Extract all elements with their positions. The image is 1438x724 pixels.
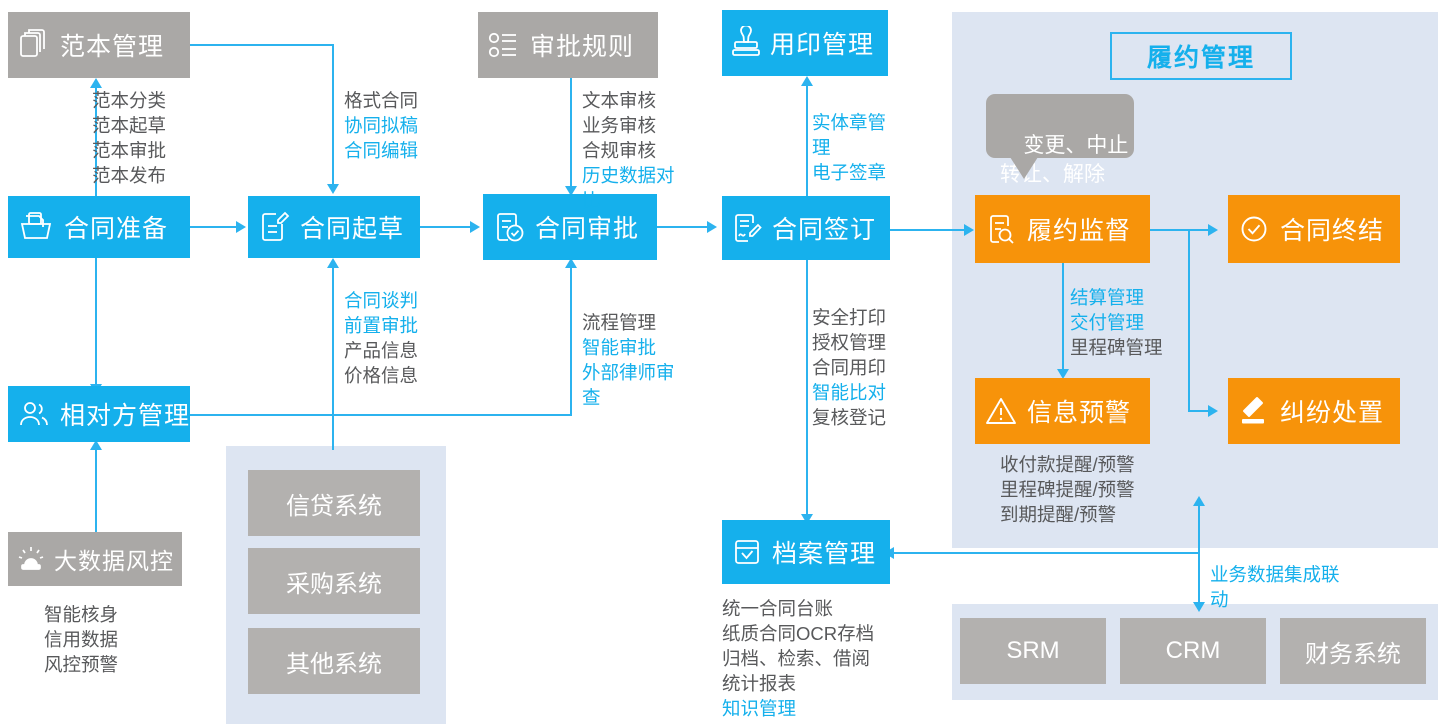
node-label: 审批规则 [530, 27, 634, 63]
connector-rules-to-approve-v [570, 78, 572, 188]
note-seal-side: 实体章管理电子签章 [812, 110, 886, 185]
note-line: 范本发布 [92, 163, 166, 188]
note-line: 到期提醒/预警 [1000, 502, 1135, 527]
node-label: 合同起草 [300, 209, 404, 245]
note-line: 历史数据对 [582, 163, 675, 188]
node-seal-mgmt[interactable]: 用印管理 [722, 10, 888, 76]
note-line: 复核登记 [812, 405, 886, 430]
connector-prep-to-counterparty-v [95, 258, 97, 386]
note-archive-bottom: 统一合同台账纸质合同OCR存档归档、检索、借阅统计报表知识管理 [722, 596, 874, 721]
connector-counterparty-to-draft-v [332, 268, 334, 416]
note-line: 协同拟稿 [344, 113, 418, 138]
note-approve-top: 文本审核业务审核合规审核历史数据对比 [582, 88, 675, 213]
system-label: 采购系统 [286, 564, 382, 599]
note-line: 电子签章 [812, 160, 886, 185]
system-box-crm[interactable]: CRM [1120, 618, 1266, 684]
connector-risk-to-counterparty-v [95, 450, 97, 532]
arrow-into-monitor-left [964, 224, 974, 236]
rules-list-icon [478, 30, 530, 60]
node-label: 信息预警 [1027, 393, 1131, 429]
connector-counterparty-to-draft-h [190, 414, 334, 416]
connector-template-to-draft-v [332, 44, 334, 186]
note-line: 里程碑提醒/预警 [1000, 477, 1135, 502]
connector-counterparty-to-approve-h [332, 414, 572, 416]
system-label: 财务系统 [1305, 634, 1401, 669]
node-contract-sign[interactable]: 合同签订 [722, 196, 890, 260]
note-line: 业务审核 [582, 113, 675, 138]
note-line: 授权管理 [812, 330, 886, 355]
note-line: 合规审核 [582, 138, 675, 163]
node-bigdata-risk[interactable]: 大数据风控 [8, 532, 182, 586]
callout-tail-icon [1010, 157, 1038, 179]
note-line: 查 [582, 385, 675, 410]
note-line: 业务数据集成联 [1210, 562, 1340, 587]
node-contract-end[interactable]: 合同终结 [1228, 195, 1400, 263]
note-approve-bottom: 流程管理智能审批外部律师审查 [582, 310, 675, 410]
note-line: 比 [582, 188, 675, 213]
note-line: 范本分类 [92, 88, 166, 113]
connector-sign-to-seal-v [806, 86, 808, 196]
note-line: 合同谈判 [344, 288, 418, 313]
connector-sign-to-monitor [890, 229, 966, 231]
note-line: 文本审核 [582, 88, 675, 113]
note-line: 价格信息 [344, 363, 418, 388]
note-perf-mid: 结算管理交付管理里程碑管理 [1070, 285, 1163, 360]
arrow-into-right-systems [1193, 602, 1205, 612]
group-title-text: 履约管理 [1147, 38, 1255, 74]
node-label: 履约监督 [1027, 211, 1131, 247]
connector-template-to-draft-h [190, 44, 334, 46]
node-archive-mgmt[interactable]: 档案管理 [722, 520, 890, 584]
note-line: 风控预警 [44, 652, 118, 677]
change-callout: 变更、中止 转让、解除 [986, 94, 1134, 158]
note-line: 智能核身 [44, 602, 118, 627]
node-counterparty-mgmt[interactable]: 相对方管理 [8, 386, 190, 442]
note-line: 前置审批 [344, 313, 418, 338]
system-box-procurement[interactable]: 采购系统 [248, 548, 420, 614]
note-integration: 业务数据集成联动 [1210, 562, 1340, 612]
connector-monitor-to-end-h [1150, 229, 1210, 231]
node-info-alert[interactable]: 信息预警 [975, 378, 1150, 444]
note-line: 智能审批 [582, 335, 675, 360]
connector-branch-to-dispute-h [1188, 410, 1210, 412]
note-line: 合同用印 [812, 355, 886, 380]
arrow-into-draft-left [236, 221, 246, 233]
note-alert-bottom: 收付款提醒/预警里程碑提醒/预警到期提醒/预警 [1000, 452, 1135, 527]
note-line: 理 [812, 135, 886, 160]
note-line: 结算管理 [1070, 285, 1163, 310]
arrow-into-draft-top [327, 184, 339, 194]
note-line: 知识管理 [722, 696, 874, 721]
system-label: 信贷系统 [286, 486, 382, 521]
connector-prep-to-draft [190, 226, 238, 228]
note-line: 统计报表 [722, 671, 874, 696]
node-label: 合同签订 [772, 210, 876, 246]
node-template-mgmt[interactable]: 范本管理 [8, 12, 190, 78]
arrow-into-perf-panel-bottom [1193, 496, 1205, 506]
doc-pencil-icon [248, 210, 300, 244]
note-line: 智能比对 [812, 380, 886, 405]
node-contract-prep[interactable]: 合同准备 [8, 196, 190, 258]
note-draft-top: 格式合同协同拟稿合同编辑 [344, 88, 418, 163]
users-icon [8, 399, 60, 429]
note-line: 格式合同 [344, 88, 418, 113]
stamp-icon [722, 26, 770, 60]
note-sign-bottom: 安全打印授权管理合同用印智能比对复核登记 [812, 305, 886, 430]
connector-midsystems-to-draft-v [332, 414, 334, 450]
connector-approve-to-sign [657, 226, 709, 228]
arrow-into-approve-left [470, 221, 480, 233]
system-box-srm[interactable]: SRM [960, 618, 1106, 684]
node-label: 纠纷处置 [1280, 393, 1384, 429]
note-line: 里程碑管理 [1070, 335, 1163, 360]
arrow-into-sign-left [707, 221, 717, 233]
node-label: 合同准备 [64, 209, 168, 245]
note-line: 实体章管 [812, 110, 886, 135]
doc-signature-icon [722, 211, 772, 245]
system-box-other[interactable]: 其他系统 [248, 628, 420, 694]
note-line: 范本起草 [92, 113, 166, 138]
alarm-light-icon [8, 543, 54, 575]
gavel-icon [1228, 395, 1280, 427]
system-box-credit[interactable]: 信贷系统 [248, 470, 420, 536]
system-label: 其他系统 [286, 644, 382, 679]
node-label: 档案管理 [772, 534, 876, 570]
connector-integration-up-v [1198, 506, 1200, 554]
connector-branch-to-dispute-v [1188, 229, 1190, 411]
connector-integration-down-v [1198, 552, 1200, 606]
note-line: 收付款提醒/预警 [1000, 452, 1135, 477]
node-perf-monitor[interactable]: 履约监督 [975, 195, 1150, 263]
note-line: 统一合同台账 [722, 596, 874, 621]
node-label: 合同终结 [1280, 211, 1384, 247]
note-line: 外部律师审 [582, 360, 675, 385]
connector-draft-to-approve [420, 226, 472, 228]
system-label: CRM [1166, 637, 1221, 665]
note-line: 范本审批 [92, 138, 166, 163]
connector-counterparty-to-approve-v [570, 268, 572, 416]
note-line: 归档、检索、借阅 [722, 646, 874, 671]
node-label: 大数据风控 [54, 542, 174, 576]
node-label: 用印管理 [770, 25, 874, 61]
note-line: 流程管理 [582, 310, 675, 335]
arrow-into-template [90, 78, 102, 88]
check-circle-icon [1228, 212, 1280, 246]
system-box-finance[interactable]: 财务系统 [1280, 618, 1426, 684]
warning-triangle-icon [975, 395, 1027, 427]
note-line: 交付管理 [1070, 310, 1163, 335]
node-label: 范本管理 [60, 27, 164, 63]
doc-check-icon [483, 210, 535, 244]
archive-check-icon [722, 536, 772, 568]
note-template: 范本分类范本起草范本审批范本发布 [92, 88, 166, 188]
note-line: 纸质合同OCR存档 [722, 621, 874, 646]
arrow-into-end-left [1208, 224, 1218, 236]
note-line: 信用数据 [44, 627, 118, 652]
stacked-pages-icon [8, 28, 60, 62]
note-line: 合同编辑 [344, 138, 418, 163]
connector-integration-to-archive-h [894, 552, 1200, 554]
folder-doc-icon [8, 210, 64, 244]
note-line: 动 [1210, 587, 1340, 612]
system-label: SRM [1006, 637, 1059, 665]
arrow-into-dispute-left [1208, 405, 1218, 417]
note-draft-bottom: 合同谈判前置审批产品信息价格信息 [344, 288, 418, 388]
node-label: 相对方管理 [60, 396, 190, 432]
arrow-into-seal [801, 76, 813, 86]
note-risk-bottom: 智能核身信用数据风控预警 [44, 602, 118, 677]
node-contract-draft[interactable]: 合同起草 [248, 196, 420, 258]
flowchart-canvas: 范本管理 审批规则 用印管理 [0, 0, 1438, 724]
doc-search-icon [975, 212, 1027, 246]
performance-group-title: 履约管理 [1110, 32, 1292, 80]
connector-sign-to-archive-v [806, 260, 808, 518]
note-line: 产品信息 [344, 338, 418, 363]
node-label: 合同审批 [535, 209, 639, 245]
connector-monitor-to-alert-v [1062, 263, 1064, 373]
node-approval-rules[interactable]: 审批规则 [478, 12, 658, 78]
node-dispute[interactable]: 纠纷处置 [1228, 378, 1400, 444]
note-line: 安全打印 [812, 305, 886, 330]
arrow-into-draft-bottom [327, 258, 339, 268]
